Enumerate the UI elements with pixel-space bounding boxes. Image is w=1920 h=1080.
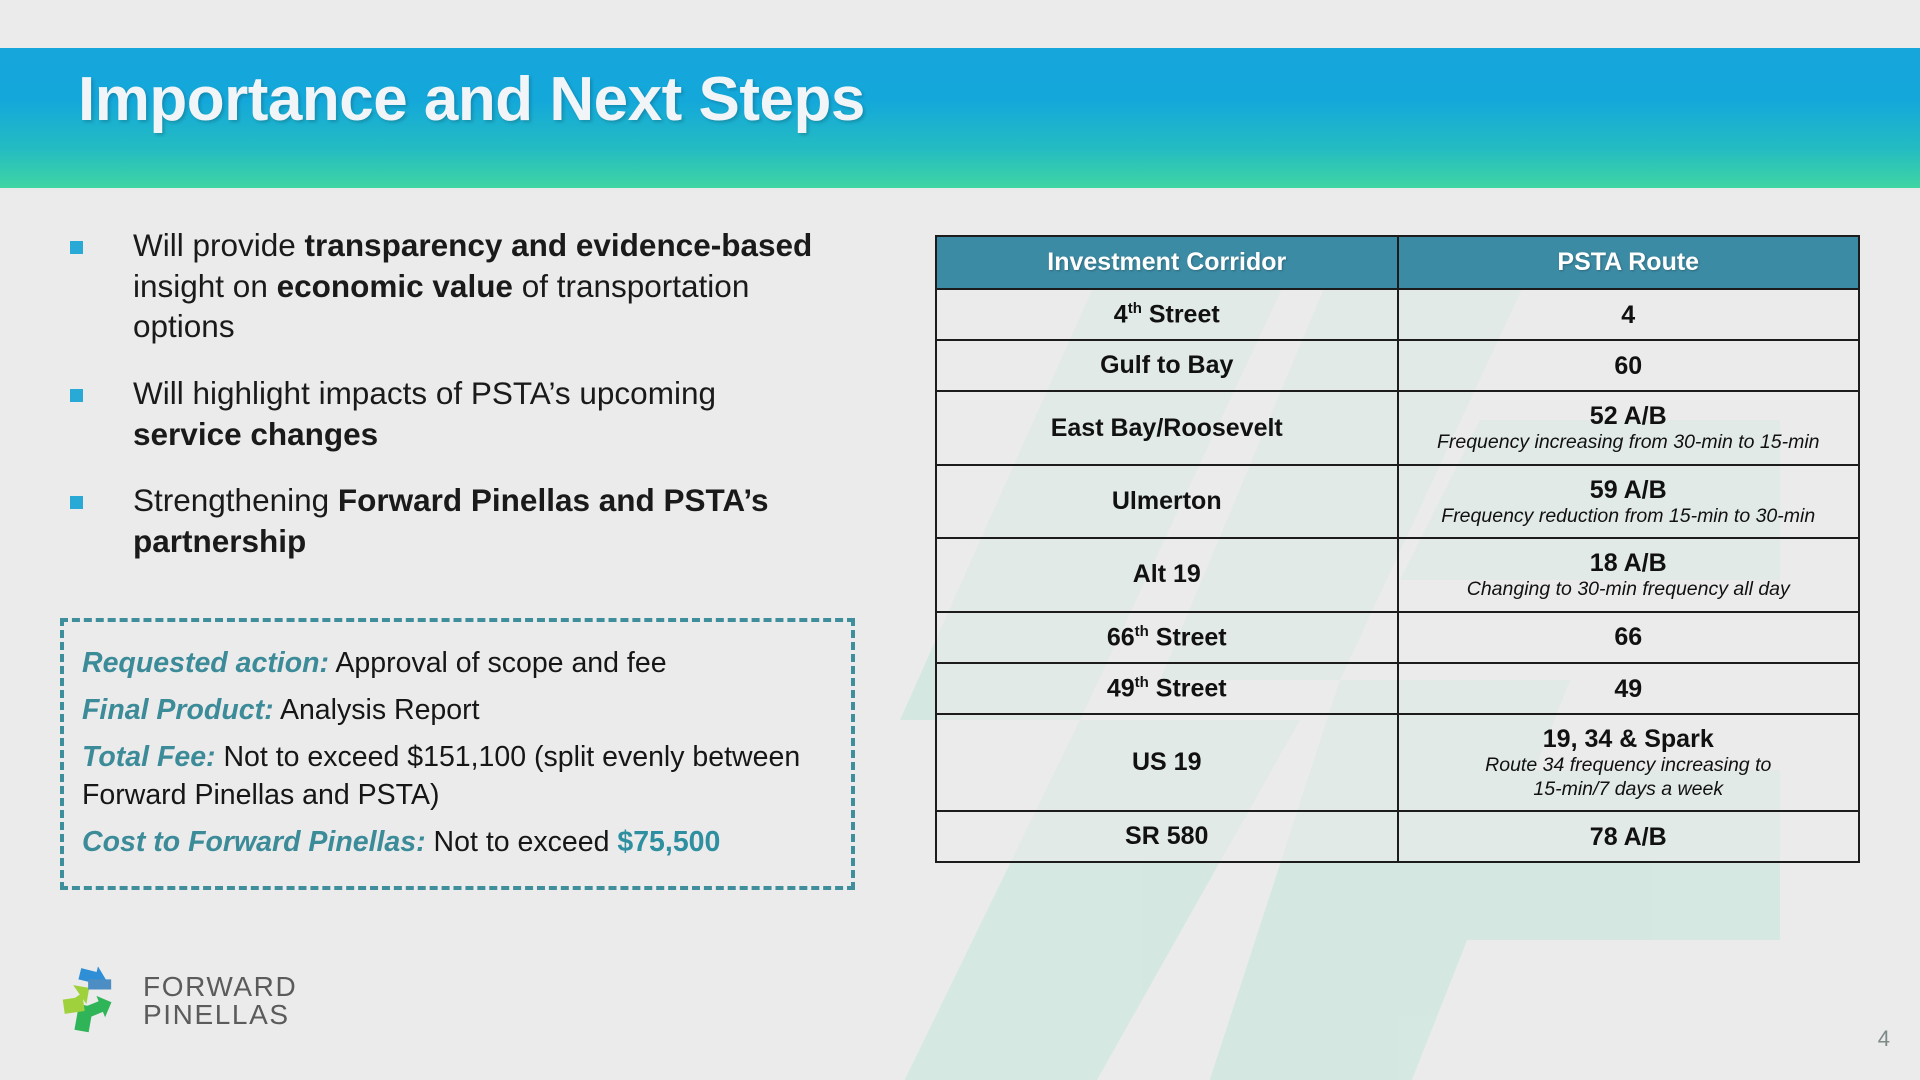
route-number: 4 [1405,301,1853,329]
table-row: Alt 1918 A/BChanging to 30-min frequency… [936,538,1859,611]
cell-route: 49 [1398,663,1860,714]
cell-route: 78 A/B [1398,811,1860,862]
route-number: 66 [1405,623,1853,651]
title-banner: Importance and Next Steps [0,48,1920,188]
table-row: 66th Street66 [936,612,1859,663]
bullet-square-icon [70,389,83,402]
callout-label: Requested action: [82,647,329,679]
callout-line: Cost to Forward Pinellas: Not to exceed … [82,824,833,862]
table-row: 49th Street49 [936,663,1859,714]
cell-corridor: 49th Street [936,663,1398,714]
column-header-route: PSTA Route [1398,236,1860,289]
bullet-square-icon [70,496,83,509]
route-number: 19, 34 & Spark [1405,725,1853,753]
cell-corridor: US 19 [936,714,1398,811]
cell-route: 59 A/BFrequency reduction from 15-min to… [1398,465,1860,538]
forward-pinellas-logo: FORWARD PINELLAS [55,965,297,1037]
cell-corridor: Gulf to Bay [936,340,1398,391]
cell-route: 60 [1398,340,1860,391]
page-title: Importance and Next Steps [78,64,865,135]
cell-corridor: 4th Street [936,289,1398,340]
bullet-text: Strengthening Forward Pinellas and PSTA’… [133,480,823,561]
table-row: 4th Street4 [936,289,1859,340]
callout-label: Total Fee: [82,741,216,773]
logo-wordmark: FORWARD PINELLAS [143,973,297,1029]
route-number: 59 A/B [1405,476,1853,504]
list-item: Strengthening Forward Pinellas and PSTA’… [0,480,930,561]
logo-line-2: PINELLAS [143,1001,297,1029]
route-number: 78 A/B [1405,823,1853,851]
cost-amount: $75,500 [617,826,720,858]
slide-canvas: Importance and Next Steps Will provide t… [0,0,1920,1080]
list-item: Will highlight impacts of PSTA’s upcomin… [0,373,930,454]
cell-route: 19, 34 & SparkRoute 34 frequency increas… [1398,714,1860,811]
bullet-square-icon [70,241,83,254]
route-note: Changing to 30-min frequency all day [1405,578,1853,600]
table-row: Ulmerton59 A/BFrequency reduction from 1… [936,465,1859,538]
cell-route: 18 A/BChanging to 30-min frequency all d… [1398,538,1860,611]
cell-corridor: 66th Street [936,612,1398,663]
callout-line: Requested action: Approval of scope and … [82,645,833,683]
route-number: 52 A/B [1405,402,1853,430]
table-body: 4th Street4Gulf to Bay60East Bay/Rooseve… [936,289,1859,862]
list-item: Will provide transparency and evidence-b… [0,225,930,347]
route-note: Route 34 frequency increasing to [1405,754,1853,776]
page-number: 4 [1878,1026,1890,1052]
cell-route: 52 A/BFrequency increasing from 30-min t… [1398,391,1860,464]
table-header-row: Investment Corridor PSTA Route [936,236,1859,289]
table-row: US 1919, 34 & SparkRoute 34 frequency in… [936,714,1859,811]
callout-line: Total Fee: Not to exceed $151,100 (split… [82,739,833,815]
callout-value: Not to exceed [426,826,618,858]
bullet-list: Will provide transparency and evidence-b… [0,225,930,587]
route-note: 15-min/7 days a week [1405,778,1853,800]
callout-value: Analysis Report [274,694,480,726]
cell-corridor: Alt 19 [936,538,1398,611]
bullet-text: Will provide transparency and evidence-b… [133,225,823,347]
table-row: SR 58078 A/B [936,811,1859,862]
callout-label: Final Product: [82,694,274,726]
corridor-route-table: Investment Corridor PSTA Route 4th Stree… [935,235,1860,863]
route-number: 60 [1405,352,1853,380]
callout-label: Cost to Forward Pinellas: [82,826,426,858]
column-header-corridor: Investment Corridor [936,236,1398,289]
cell-route: 4 [1398,289,1860,340]
route-number: 49 [1405,675,1853,703]
route-note: Frequency reduction from 15-min to 30-mi… [1405,505,1853,527]
bullet-text: Will highlight impacts of PSTA’s upcomin… [133,373,823,454]
table-row: East Bay/Roosevelt52 A/BFrequency increa… [936,391,1859,464]
corridor-table-wrapper: Investment Corridor PSTA Route 4th Stree… [935,235,1860,863]
callout-value: Approval of scope and fee [329,647,667,679]
cell-corridor: Ulmerton [936,465,1398,538]
cell-route: 66 [1398,612,1860,663]
logo-line-1: FORWARD [143,973,297,1001]
cell-corridor: SR 580 [936,811,1398,862]
table-row: Gulf to Bay60 [936,340,1859,391]
callout-line: Final Product: Analysis Report [82,692,833,730]
route-number: 18 A/B [1405,549,1853,577]
cell-corridor: East Bay/Roosevelt [936,391,1398,464]
pinwheel-logo-icon [55,965,127,1037]
requested-action-callout: Requested action: Approval of scope and … [60,618,855,890]
route-note: Frequency increasing from 30-min to 15-m… [1405,431,1853,453]
top-white-strip [0,0,1920,48]
